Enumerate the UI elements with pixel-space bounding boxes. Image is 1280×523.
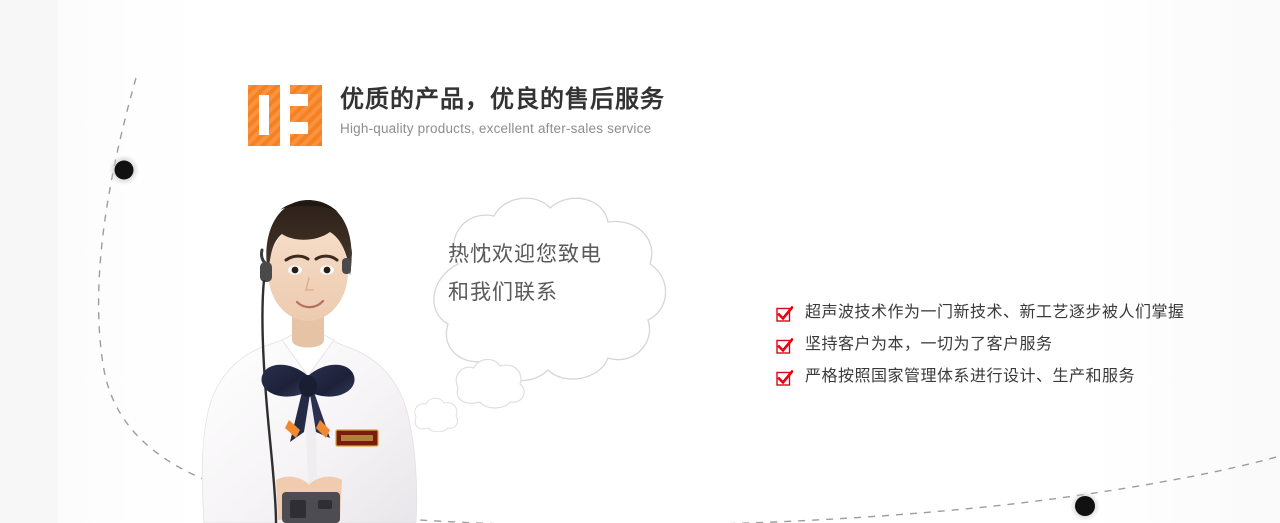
list-item-label: 坚持客户为本，一切为了客户服务 (805, 334, 1053, 356)
background-band-left (0, 0, 58, 523)
section-number-badge: 03 (248, 84, 322, 146)
list-item-label: 严格按照国家管理体系进行设计、生产和服务 (805, 366, 1135, 388)
red-check-icon (776, 306, 793, 323)
page-title: 优质的产品，优良的售后服务 (340, 86, 665, 114)
agent-eye-left (292, 267, 299, 274)
background-band-right (1232, 0, 1280, 523)
list-item: 严格按照国家管理体系进行设计、生产和服务 (776, 362, 1216, 392)
promo-section: 03 优质的产品，优良的售后服务 High-quality products, … (0, 0, 1280, 523)
red-check-icon (776, 370, 793, 387)
list-item: 超声波技术作为一门新技术、新工艺逐步被人们掌握 (776, 298, 1216, 328)
thought-bubble-line-2: 和我们联系 (448, 274, 648, 312)
list-item: 坚持客户为本，一切为了客户服务 (776, 330, 1216, 360)
red-check-icon (776, 338, 793, 355)
thought-bubble-line-1: 热忱欢迎您致电 (448, 236, 648, 274)
thought-bubble-shape (396, 192, 686, 432)
thought-bubble: 热忱欢迎您致电 和我们联系 (396, 192, 686, 432)
tiny-cloud (415, 398, 458, 432)
list-item-label: 超声波技术作为一门新技术、新工艺逐步被人们掌握 (805, 302, 1185, 324)
agent-eye-right (324, 267, 331, 274)
section-header: 03 优质的产品，优良的售后服务 High-quality products, … (248, 84, 665, 146)
small-cloud (456, 359, 524, 408)
page-subtitle: High-quality products, excellent after-s… (340, 121, 665, 137)
customer-service-agent-photo (190, 180, 430, 523)
thought-bubble-text: 热忱欢迎您致电 和我们联系 (448, 236, 648, 312)
feature-checklist: 超声波技术作为一门新技术、新工艺逐步被人们掌握 坚持客户为本，一切为了客户服务 … (776, 298, 1216, 394)
badge-digit-three (290, 84, 322, 146)
section-header-text: 优质的产品，优良的售后服务 High-quality products, exc… (340, 84, 665, 137)
